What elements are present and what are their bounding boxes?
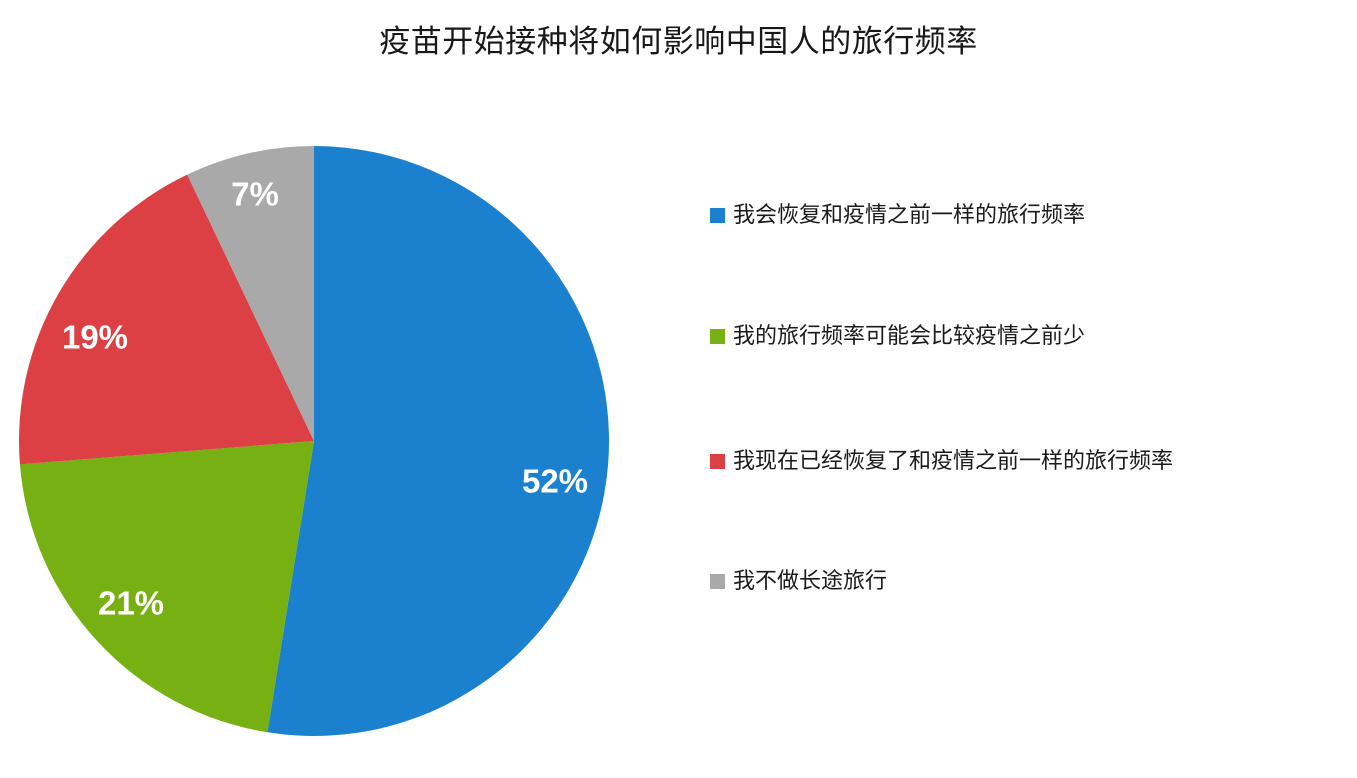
legend-item[interactable]: 我不做长途旅行 xyxy=(710,526,1350,650)
pie-slice[interactable] xyxy=(20,441,314,732)
legend-item[interactable]: 我现在已经恢复了和疫情之前一样的旅行频率 xyxy=(710,406,1350,526)
legend-color-swatch-icon xyxy=(710,208,725,223)
pie-plot-area: 52% 21% 19% 7% xyxy=(0,120,660,760)
pie-slice-value-label: 19% xyxy=(62,321,128,354)
legend-color-swatch-icon xyxy=(710,574,725,589)
chart-legend: 我会恢复和疫情之前一样的旅行频率 我的旅行频率可能会比较疫情之前少 我现在已经恢… xyxy=(710,160,1350,650)
legend-color-swatch-icon xyxy=(710,454,725,469)
pie-slice-value-label: 21% xyxy=(98,587,164,620)
pie-svg xyxy=(0,120,660,760)
pie-slice-value-label: 7% xyxy=(231,178,279,211)
pie-slice-value-label: 52% xyxy=(522,465,588,498)
legend-item-label: 我不做长途旅行 xyxy=(733,566,887,596)
legend-item[interactable]: 我会恢复和疫情之前一样的旅行频率 xyxy=(710,160,1350,281)
pie-slice[interactable] xyxy=(267,146,609,736)
chart-title: 疫苗开始接种将如何影响中国人的旅行频率 xyxy=(0,22,1357,62)
legend-item-label: 我的旅行频率可能会比较疫情之前少 xyxy=(733,321,1085,351)
legend-color-swatch-icon xyxy=(710,329,725,344)
legend-item-label: 我现在已经恢复了和疫情之前一样的旅行频率 xyxy=(733,446,1173,476)
pie-chart-figure: 疫苗开始接种将如何影响中国人的旅行频率 52% 21% 19% 7% 我会恢复和… xyxy=(0,0,1357,778)
pie-slice-group xyxy=(19,146,609,736)
legend-item-label: 我会恢复和疫情之前一样的旅行频率 xyxy=(733,200,1085,230)
legend-item[interactable]: 我的旅行频率可能会比较疫情之前少 xyxy=(710,281,1350,406)
